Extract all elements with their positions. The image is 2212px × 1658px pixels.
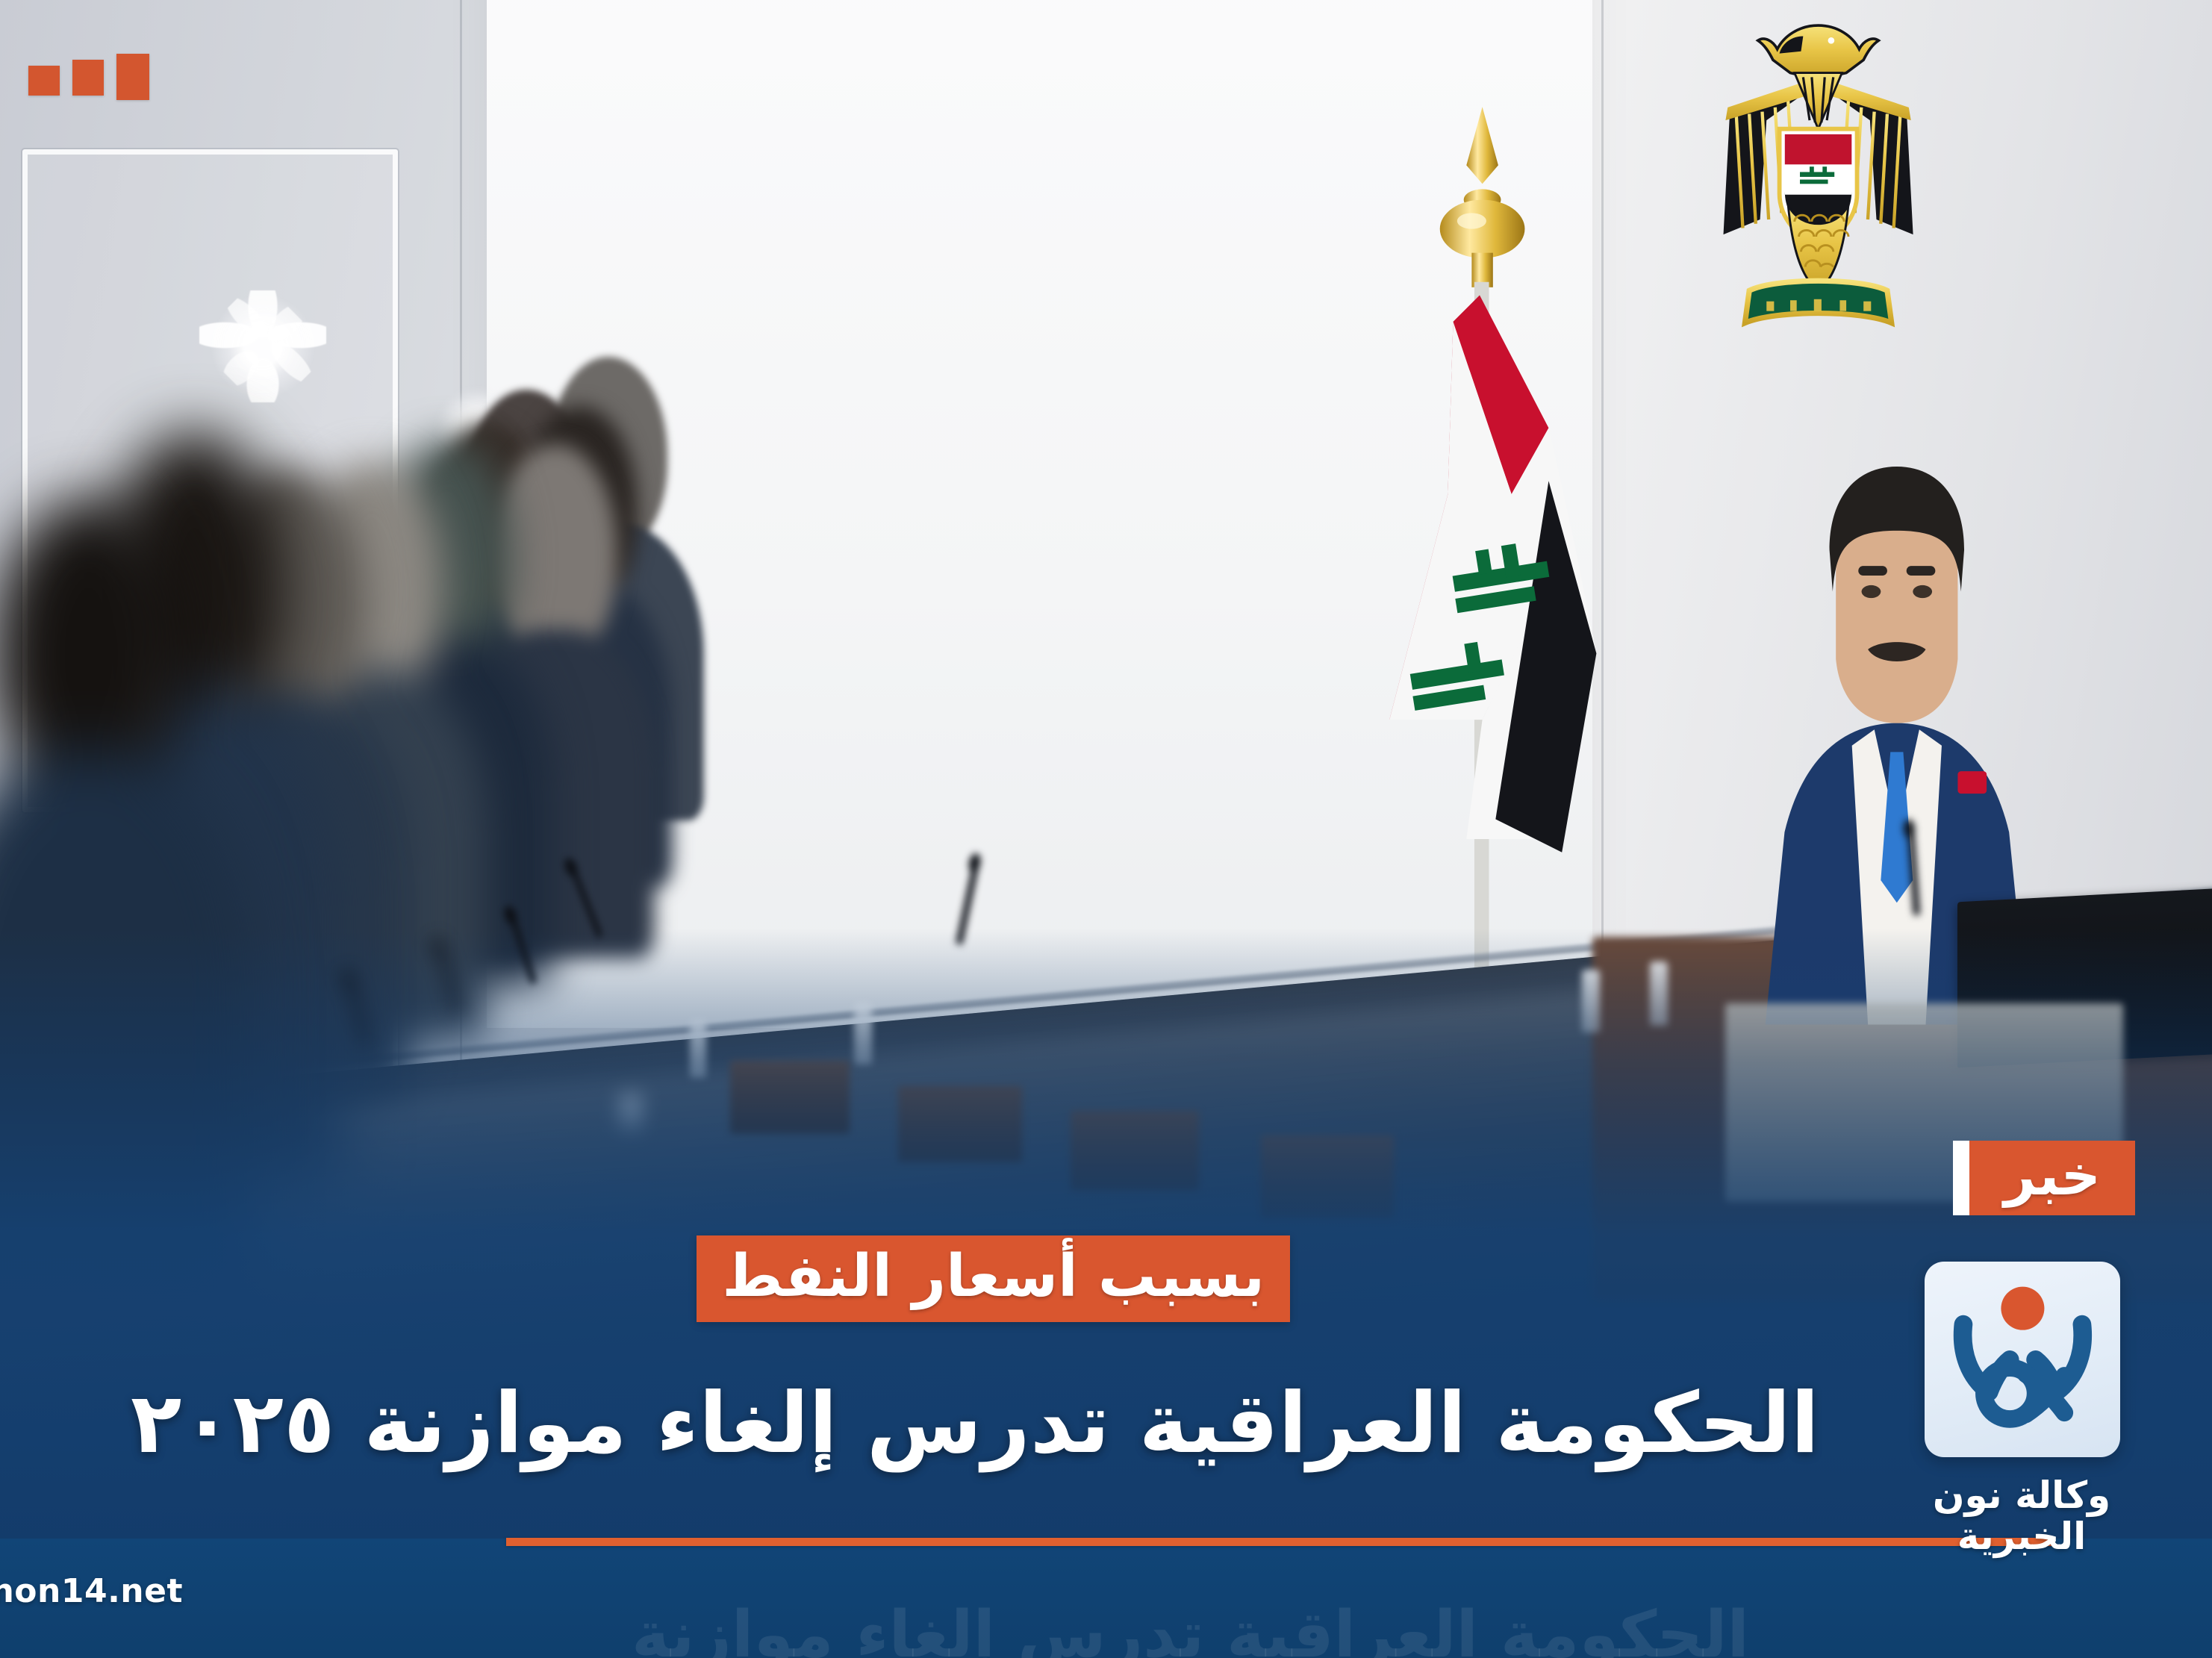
bar-2	[72, 60, 104, 96]
news-badge-box: خبر	[1969, 1141, 2135, 1215]
noon-logo-icon	[1942, 1280, 2103, 1440]
orange-divider	[506, 1538, 2051, 1546]
iraq-coat-of-arms-emblem	[1672, 8, 1964, 331]
headline-watermark: الحكومة العراقية تدرس إلغاء موازنة	[632, 1598, 1749, 1658]
three-bars-logo-mark	[28, 54, 149, 100]
kicker-text: بسبب أسعار النفط	[722, 1247, 1265, 1306]
iraq-flag	[1339, 96, 1626, 1025]
news-badge-tick	[1953, 1141, 1969, 1215]
bar-1	[116, 54, 149, 100]
bar-3	[28, 66, 60, 96]
site-url: www.non14.net	[0, 1572, 183, 1610]
news-card: الحكومة العراقية تدرس إلغاء موازنة بسبب …	[0, 0, 2212, 1658]
news-badge: خبر	[1953, 1141, 2135, 1215]
headline: الحكومة العراقية تدرس إلغاء موازنة ٢٠٢٥	[131, 1377, 2081, 1471]
news-badge-label: خبر	[2004, 1148, 2101, 1203]
plaster-rosette-ornament	[199, 290, 326, 402]
agency-name: وكالة نون الخبرية	[1876, 1475, 2167, 1557]
kicker-banner: بسبب أسعار النفط	[697, 1235, 1290, 1322]
noon-news-agency-logo	[1925, 1262, 2120, 1457]
